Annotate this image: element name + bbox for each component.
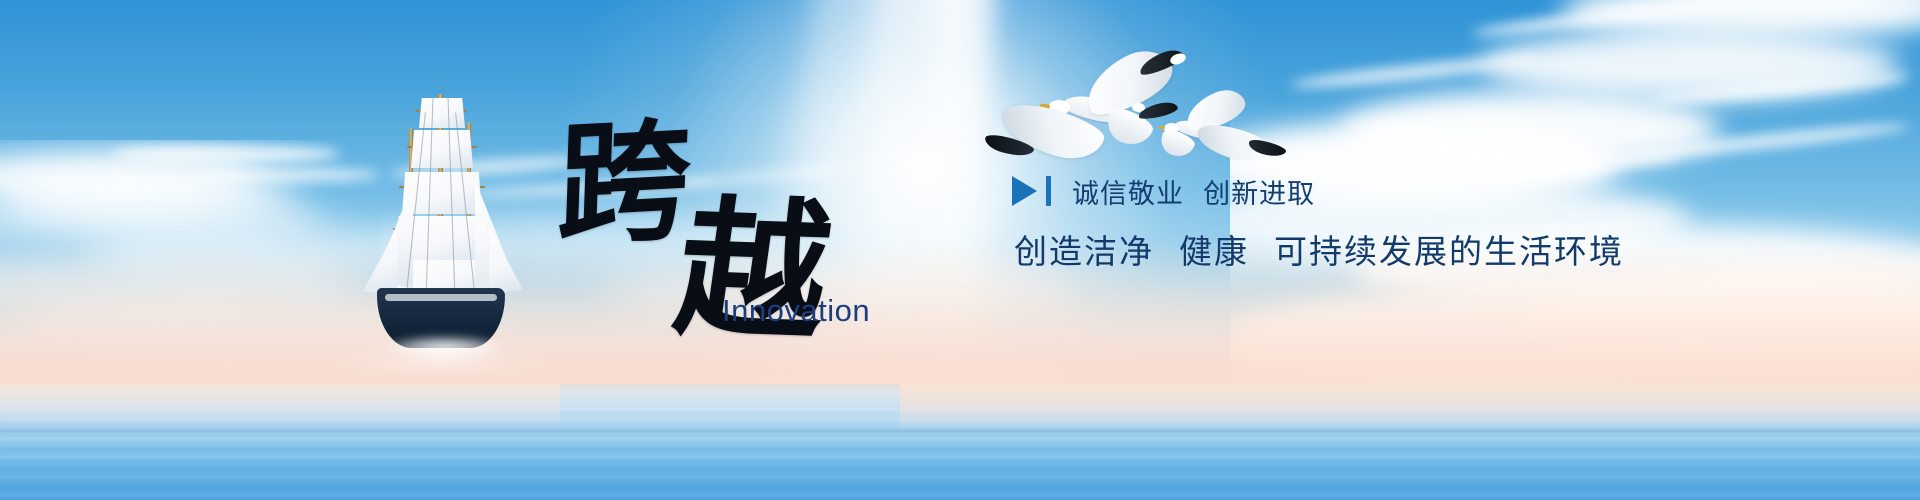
slogan-block: 诚信敬业 创新进取 创造洁净 健康 可持续发展的生活环境 bbox=[1012, 168, 1772, 273]
play-triangle-icon bbox=[1012, 176, 1037, 206]
tall-sailing-ship bbox=[355, 88, 530, 388]
seagull bbox=[1140, 92, 1290, 174]
divider-bar-icon bbox=[1046, 176, 1051, 206]
slogan-row-primary: 诚信敬业 创新进取 bbox=[1012, 168, 1772, 214]
slogan-line-1: 诚信敬业 创新进取 bbox=[1072, 172, 1315, 211]
calligraphy-char-kua: 跨 bbox=[555, 115, 692, 254]
slogan-line-2: 创造洁净 健康 可持续发展的生活环境 bbox=[1014, 225, 1772, 273]
ship-wake bbox=[315, 350, 565, 376]
hero-banner: 跨 越 Innovation 诚信敬业 创新进取 创造洁净 健康 可持续发展的生… bbox=[0, 0, 1920, 500]
horizon-warm-glow bbox=[900, 384, 1920, 430]
horizon-warm-glow bbox=[0, 384, 560, 424]
innovation-subtitle: Innovation bbox=[722, 293, 870, 329]
ship-hull-stripe bbox=[385, 294, 497, 301]
calligraphy-headline: 跨 越 bbox=[548, 108, 848, 308]
